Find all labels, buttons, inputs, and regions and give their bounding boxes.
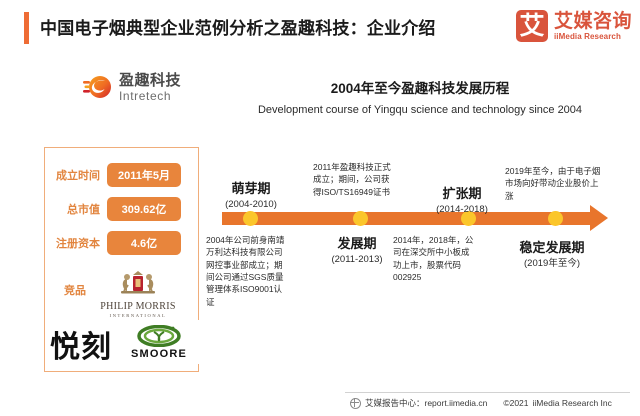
footer: 艾媒报告中心：report.iimedia.cn ©2021 iiMedia R… — [350, 397, 612, 409]
info-value-capital: 4.6亿 — [107, 231, 181, 255]
smoore-wreath-icon — [136, 325, 182, 347]
timeline-subtitle: Development course of Yingqu science and… — [220, 104, 620, 116]
competitor-logo-relx: 悦刻 — [50, 322, 112, 366]
iimedia-mark-icon: 艾 — [516, 10, 548, 42]
info-value-founded: 2011年5月 — [107, 163, 181, 187]
timeline-phase-3-years: (2014-2018) — [418, 204, 506, 216]
timeline-phase-2-years: (2011-2013) — [314, 254, 400, 266]
footer-org: iiMedia Research Inc — [533, 398, 612, 408]
intretech-name-en: Intretech — [119, 90, 181, 102]
info-row-founded: 成立时间 2011年5月 — [45, 162, 200, 188]
timeline-bar — [222, 212, 592, 225]
timeline-title: 2004年至今盈趣科技发展历程 — [220, 77, 620, 97]
timeline-desc-2: 2011年盈趣科技正式成立；期间，公司获得ISO/TS16949证书 — [313, 161, 395, 198]
iimedia-name-en: iiMedia Research — [554, 33, 632, 41]
header-divider — [0, 55, 640, 56]
page-header: 中国电子烟典型企业范例分析之盈趣科技：企业介绍 艾 艾媒咨询 iiMedia R… — [0, 0, 640, 56]
timeline-phase-4-name: 稳定发展期 — [500, 240, 604, 256]
globe-icon — [350, 398, 361, 409]
info-label-capital: 注册资本 — [45, 235, 107, 251]
footer-copyright: ©2021 — [503, 398, 528, 408]
timeline-desc-3: 2014年，2018年，公司在深交所中小板成功上市，股票代码002925 — [393, 234, 475, 283]
intretech-swirl-icon — [82, 72, 112, 102]
footer-source[interactable]: 艾媒报告中心：report.iimedia.cn — [365, 397, 487, 409]
timeline-phase-4-years: (2019年至今) — [500, 258, 604, 270]
timeline-phase-1: 萌芽期 (2004-2010) — [205, 181, 297, 211]
info-row-capital: 注册资本 4.6亿 — [45, 230, 200, 256]
timeline-phase-1-name: 萌芽期 — [205, 181, 297, 197]
timeline-phase-3: 扩张期 (2014-2018) — [418, 186, 506, 216]
iimedia-wordmark: 艾媒咨询 iiMedia Research — [554, 12, 632, 41]
intretech-name-cn: 盈趣科技 — [119, 73, 181, 88]
timeline-desc-4: 2019年至今，由于电子烟市场向好带动企业股价上涨 — [505, 165, 605, 202]
timeline-arrow-head-icon — [590, 205, 608, 231]
iimedia-mark-glyph: 艾 — [516, 10, 548, 42]
timeline-phase-2: 发展期 (2011-2013) — [314, 236, 400, 266]
info-row-market-cap: 总市值 309.62亿 — [45, 196, 200, 222]
timeline-phase-1-years: (2004-2010) — [205, 199, 297, 211]
smoore-name: SMOORE — [131, 348, 187, 360]
iimedia-logo: 艾 艾媒咨询 iiMedia Research — [516, 10, 632, 42]
iimedia-name-cn: 艾媒咨询 — [554, 12, 632, 31]
info-label-founded: 成立时间 — [45, 167, 107, 183]
philip-morris-sub: INTERNATIONAL — [110, 313, 167, 318]
timeline-dot-4 — [548, 211, 563, 226]
info-value-market-cap: 309.62亿 — [107, 197, 181, 221]
intretech-wordmark: 盈趣科技 Intretech — [119, 73, 181, 102]
competitor-logo-smoore: SMOORE — [117, 320, 201, 364]
philip-morris-name: PHILIP MORRIS — [100, 301, 176, 312]
timeline-phase-2-name: 发展期 — [314, 236, 400, 252]
header-accent-bar — [24, 12, 29, 44]
competitor-logo-philip-morris: PHILIP MORRIS INTERNATIONAL — [96, 266, 180, 318]
intretech-logo: 盈趣科技 Intretech — [82, 72, 181, 102]
competitors-label: 竞品 — [64, 282, 86, 298]
footer-divider — [345, 392, 630, 393]
timeline-desc-1: 2004年公司前身南靖万利达科技有限公司网控事业部成立；期间公司通过SGS质量管… — [206, 234, 288, 308]
page-title: 中国电子烟典型企业范例分析之盈趣科技：企业介绍 — [40, 14, 436, 39]
timeline-dot-1 — [243, 211, 258, 226]
philip-morris-crest-icon — [115, 270, 161, 300]
timeline-dot-2 — [353, 211, 368, 226]
timeline-phase-3-name: 扩张期 — [418, 186, 506, 202]
info-label-market-cap: 总市值 — [45, 201, 107, 217]
timeline-phase-4: 稳定发展期 (2019年至今) — [500, 240, 604, 270]
